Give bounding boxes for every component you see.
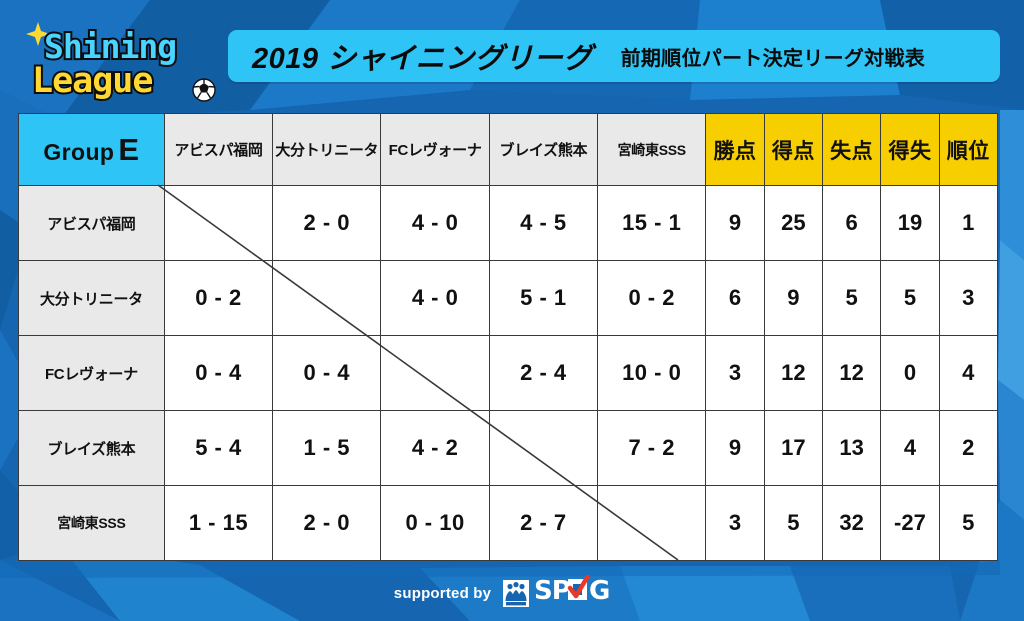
result-cell: 10 - 0 [598,336,706,411]
svg-text:G: G [589,576,609,605]
column-header-goals-against: 失点 [822,114,880,186]
sponsor-logo: SP G [503,575,630,612]
result-cell: 4 - 5 [489,186,597,261]
stat-goal-diff: 0 [881,336,939,411]
result-cell: 2 - 7 [489,486,597,561]
result-cell: 2 - 0 [273,186,381,261]
stat-rank: 2 [939,411,997,486]
stat-rank: 3 [939,261,997,336]
column-header-team-5: 宮崎東SSS [598,114,706,186]
stat-goals-for: 5 [764,486,822,561]
table-row: 宮崎東SSS 1 - 15 2 - 0 0 - 10 2 - 7 3 5 32 … [19,486,998,561]
column-header-team-1: アビスパ福岡 [164,114,272,186]
row-header-team: FCレヴォーナ [19,336,165,411]
result-cell: 0 - 4 [273,336,381,411]
stat-rank: 4 [939,336,997,411]
group-header-cell: GroupE [19,114,165,186]
result-cell: 1 - 15 [164,486,272,561]
result-cell: 5 - 4 [164,411,272,486]
column-header-team-2: 大分トリニータ [273,114,381,186]
result-cell: 4 - 2 [381,411,489,486]
result-cell: 1 - 5 [273,411,381,486]
table-row: 大分トリニータ 0 - 2 4 - 0 5 - 1 0 - 2 6 9 5 5 … [19,261,998,336]
soccer-ball-icon [193,79,215,101]
result-cell: 0 - 2 [598,261,706,336]
stat-goals-for: 9 [764,261,822,336]
stat-points: 9 [706,186,764,261]
stat-goals-against: 12 [822,336,880,411]
result-cell: 4 - 0 [381,261,489,336]
stat-goals-against: 32 [822,486,880,561]
stat-rank: 5 [939,486,997,561]
standings-table: GroupE アビスパ福岡 大分トリニータ FCレヴォーナ ブレイズ熊本 宮崎東… [18,113,998,561]
poster-root: Shining League 2019 シャイニングリーグ 前期順位パート決定リ… [0,0,1024,621]
result-cell [164,186,272,261]
stat-goal-diff: -27 [881,486,939,561]
column-header-goals-for: 得点 [764,114,822,186]
stat-goals-for: 12 [764,336,822,411]
title-main-text: 2019 シャイニングリーグ [252,35,593,77]
result-cell [273,261,381,336]
result-cell [381,336,489,411]
supported-by-label: supported by [394,585,491,602]
result-cell: 5 - 1 [489,261,597,336]
result-cell: 7 - 2 [598,411,706,486]
stat-points: 6 [706,261,764,336]
stat-goals-against: 6 [822,186,880,261]
stat-goals-for: 25 [764,186,822,261]
table-header-row: GroupE アビスパ福岡 大分トリニータ FCレヴォーナ ブレイズ熊本 宮崎東… [19,114,998,186]
stat-goals-against: 13 [822,411,880,486]
sponsor-wordmark: SP G [534,575,630,612]
stat-goal-diff: 4 [881,411,939,486]
stat-goals-against: 5 [822,261,880,336]
poster-footer: supported by SP G [0,565,1024,621]
stat-points: 3 [706,336,764,411]
column-header-team-3: FCレヴォーナ [381,114,489,186]
title-banner: 2019 シャイニングリーグ 前期順位パート決定リーグ対戦表 [228,30,1000,82]
result-cell: 0 - 2 [164,261,272,336]
group-letter: E [118,132,139,167]
column-header-team-4: ブレイズ熊本 [489,114,597,186]
stat-goals-for: 17 [764,411,822,486]
result-cell: 2 - 0 [273,486,381,561]
result-cell: 0 - 10 [381,486,489,561]
logo-league-text: League [32,61,152,101]
result-cell: 0 - 4 [164,336,272,411]
stat-goal-diff: 5 [881,261,939,336]
table-row: アビスパ福岡 2 - 0 4 - 0 4 - 5 15 - 1 9 25 6 1… [19,186,998,261]
shining-league-logo: Shining League [22,16,222,98]
result-cell [489,411,597,486]
group-label: Group [43,139,114,165]
title-sub-text: 前期順位パート決定リーグ対戦表 [621,42,926,71]
poster-header: Shining League 2019 シャイニングリーグ 前期順位パート決定リ… [0,0,1024,110]
row-header-team: アビスパ福岡 [19,186,165,261]
row-header-team: ブレイズ熊本 [19,411,165,486]
result-cell: 4 - 0 [381,186,489,261]
result-cell [598,486,706,561]
column-header-points: 勝点 [706,114,764,186]
row-header-team: 宮崎東SSS [19,486,165,561]
logo-artwork: Shining League [22,16,222,102]
table-row: ブレイズ熊本 5 - 4 1 - 5 4 - 2 7 - 2 9 17 13 4… [19,411,998,486]
stat-points: 9 [706,411,764,486]
people-group-icon [503,580,529,607]
column-header-rank: 順位 [939,114,997,186]
sponsor-name-text: SP [534,576,570,605]
table-row: FCレヴォーナ 0 - 4 0 - 4 2 - 4 10 - 0 3 12 12… [19,336,998,411]
result-cell: 2 - 4 [489,336,597,411]
stat-goal-diff: 19 [881,186,939,261]
standings-table-wrap: GroupE アビスパ福岡 大分トリニータ FCレヴォーナ ブレイズ熊本 宮崎東… [18,113,998,561]
row-header-team: 大分トリニータ [19,261,165,336]
result-cell: 15 - 1 [598,186,706,261]
stat-points: 3 [706,486,764,561]
table-body: アビスパ福岡 2 - 0 4 - 0 4 - 5 15 - 1 9 25 6 1… [19,186,998,561]
stat-rank: 1 [939,186,997,261]
sponsor-wordmark-art: SP G [534,575,630,605]
column-header-goal-diff: 得失 [881,114,939,186]
